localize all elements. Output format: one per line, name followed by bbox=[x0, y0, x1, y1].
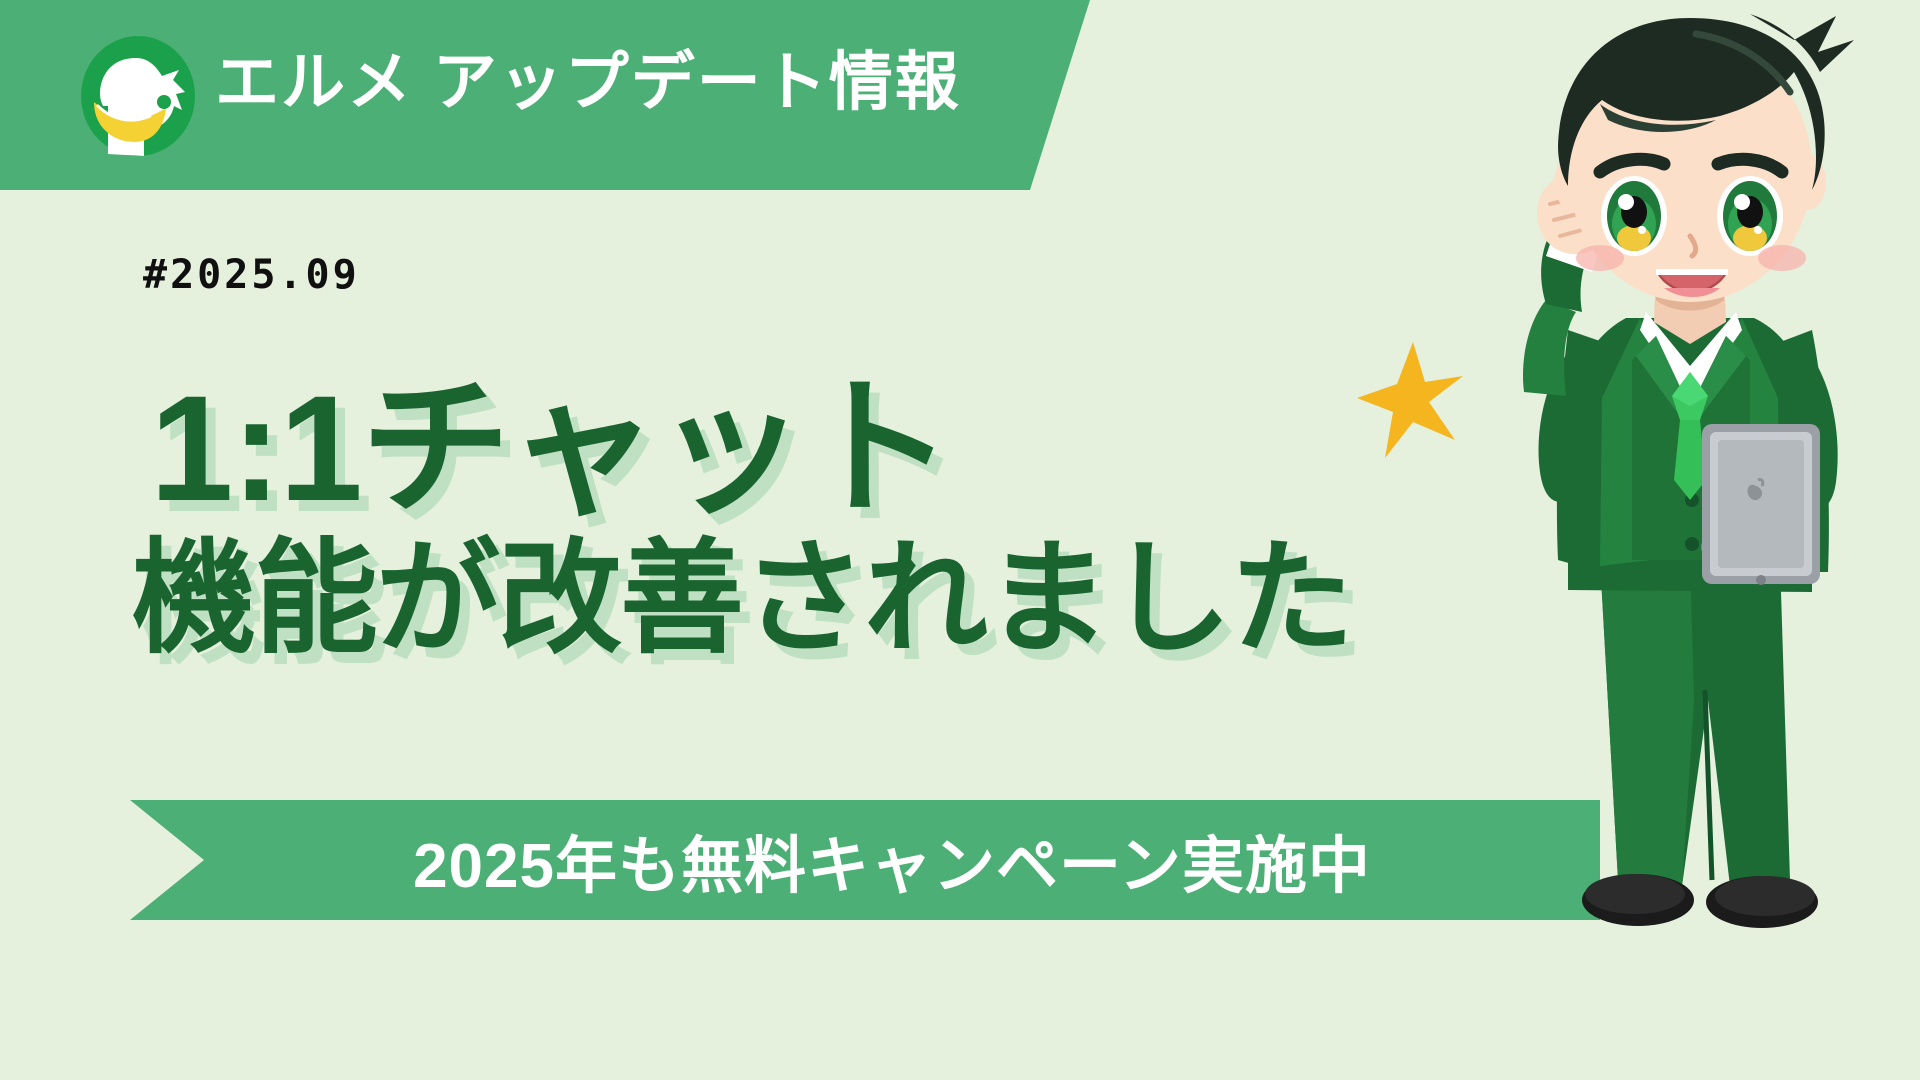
headline-line-1: 1:1チャット bbox=[150, 370, 1452, 528]
poster-canvas: エルメ アップデート情報 #2025.09 1:1チャット 機能が改善されました… bbox=[0, 0, 1920, 1080]
elme-bird-logo-icon bbox=[78, 36, 198, 156]
headline-block: 1:1チャット 機能が改善されました bbox=[132, 370, 1452, 664]
header-banner: エルメ アップデート情報 bbox=[0, 0, 1090, 190]
headline-line-2: 機能が改善されました bbox=[132, 534, 1452, 664]
logo-wrap bbox=[78, 36, 198, 156]
header-title: エルメ アップデート情報 bbox=[215, 50, 961, 114]
campaign-ribbon-text: 2025年も無料キャンペーン実施中 bbox=[413, 815, 1371, 905]
sparkle-star-icon bbox=[1355, 340, 1465, 465]
campaign-ribbon: 2025年も無料キャンペーン実施中 bbox=[130, 800, 1600, 920]
issue-tag: #2025.09 bbox=[143, 252, 360, 298]
